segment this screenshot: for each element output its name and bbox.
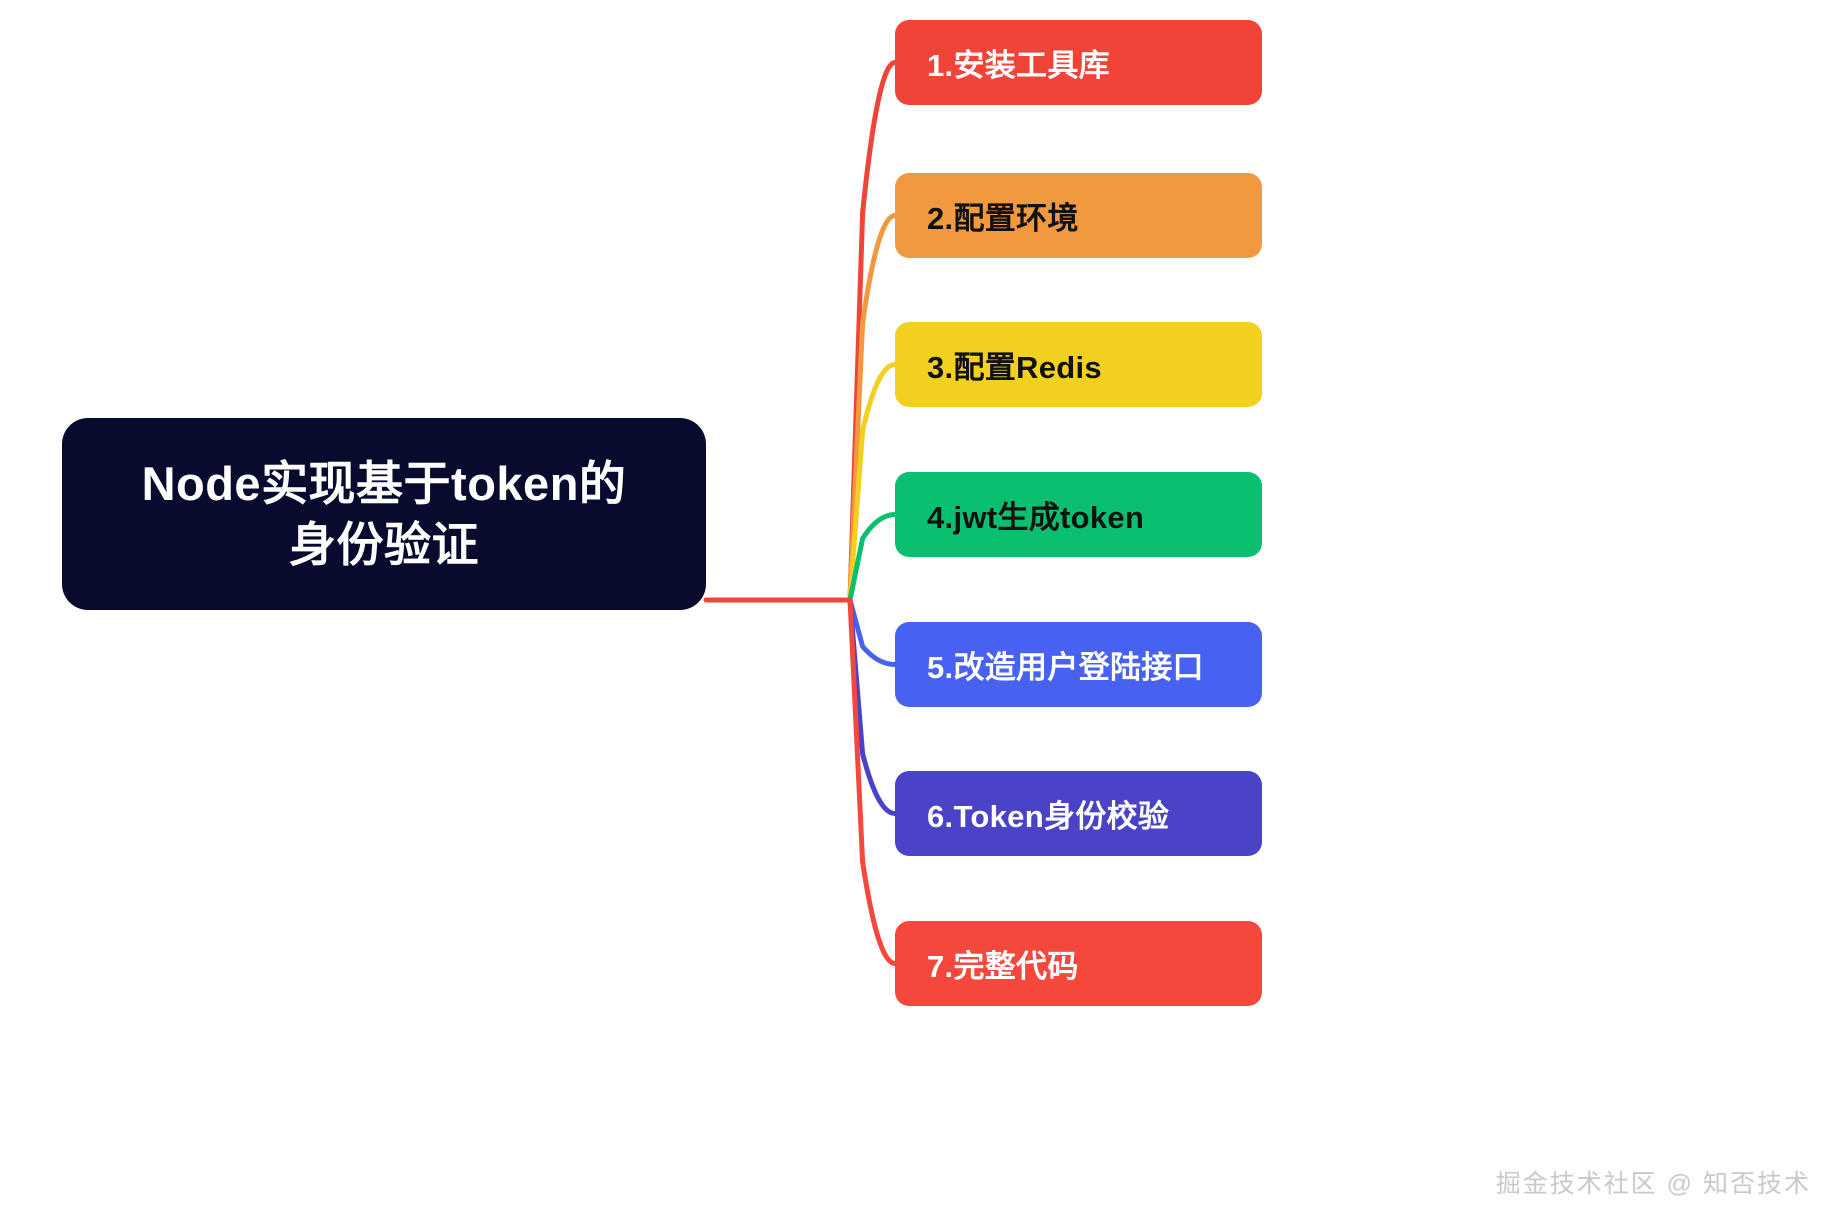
root-node-line-1: Node实现基于token的 [142, 453, 627, 514]
branch-node-5[interactable]: 5.改造用户登陆接口 [895, 622, 1262, 707]
branch-node-6[interactable]: 6.Token身份校验 [895, 771, 1262, 856]
root-node[interactable]: Node实现基于token的 身份验证 [62, 418, 706, 610]
connector-to-branch-6 [850, 600, 895, 814]
branch-node-4[interactable]: 4.jwt生成token [895, 472, 1262, 557]
connector-to-branch-3 [850, 365, 895, 601]
branch-node-label: 2.配置环境 [927, 193, 1079, 238]
branch-node-label: 1.安装工具库 [927, 40, 1110, 85]
branch-node-1[interactable]: 1.安装工具库 [895, 20, 1262, 105]
mindmap-canvas: Node实现基于token的 身份验证 1.安装工具库2.配置环境3.配置Red… [0, 0, 1833, 1214]
root-node-line-2: 身份验证 [289, 514, 479, 575]
branch-node-label: 4.jwt生成token [927, 492, 1144, 537]
branch-node-label: 3.配置Redis [927, 342, 1102, 387]
branch-node-7[interactable]: 7.完整代码 [895, 921, 1262, 1006]
branch-node-label: 7.完整代码 [927, 941, 1079, 986]
connector-to-branch-5 [850, 600, 895, 665]
watermark: 掘金技术社区 @ 知否技术 [1496, 1164, 1811, 1200]
connector-to-branch-2 [850, 216, 895, 601]
connector-to-branch-4 [850, 515, 895, 601]
connector-to-branch-7 [850, 600, 895, 964]
branch-node-label: 6.Token身份校验 [927, 791, 1169, 836]
branch-node-label: 5.改造用户登陆接口 [927, 642, 1204, 687]
branch-node-3[interactable]: 3.配置Redis [895, 322, 1262, 407]
branch-node-2[interactable]: 2.配置环境 [895, 173, 1262, 258]
connector-to-branch-1 [850, 63, 895, 601]
